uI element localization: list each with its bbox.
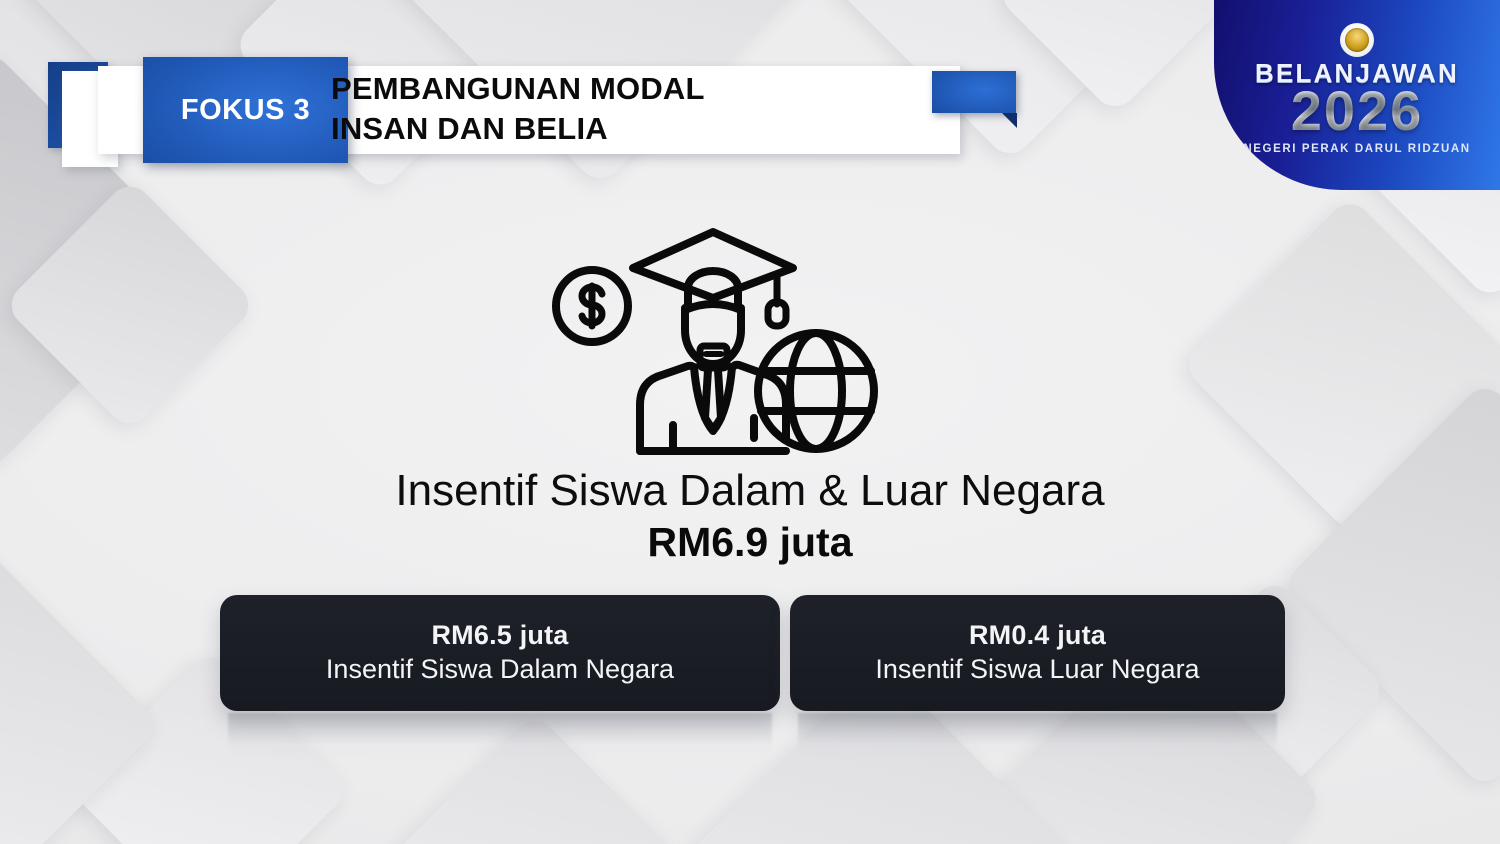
main-amount: RM6.9 juta: [0, 519, 1500, 566]
card-description: Insentif Siswa Dalam Negara: [326, 653, 674, 687]
body-left: [640, 366, 694, 451]
breakdown-cards: RM6.5 juta Insentif Siswa Dalam Negara R…: [0, 595, 1500, 715]
slide-root: FOKUS 3 PEMBANGUNAN MODAL INSAN DAN BELI…: [0, 0, 1500, 844]
crest-inner: [1345, 28, 1369, 52]
page-title-line-1: PEMBANGUNAN MODAL: [331, 69, 891, 109]
page-title: PEMBANGUNAN MODAL INSAN DAN BELIA: [331, 69, 891, 150]
cap-band-line: [685, 304, 741, 310]
perak-crest-icon: [1340, 23, 1374, 57]
graduation-cap-icon: [633, 232, 793, 326]
necktie: [705, 370, 721, 430]
logo-subtitle: NEGERI PERAK DARUL RIDZUAN: [1214, 143, 1500, 155]
card-amount: RM6.5 juta: [431, 619, 568, 653]
fokus-badge-label: FOKUS 3: [181, 94, 310, 127]
main-headline: Insentif Siswa Dalam & Luar Negara: [0, 466, 1500, 516]
card-reflection: [798, 713, 1277, 759]
header: FOKUS 3 PEMBANGUNAN MODAL INSAN DAN BELI…: [48, 57, 960, 157]
logo-year: 2026: [1214, 78, 1500, 143]
header-accent-block-right: [932, 71, 1016, 113]
card-amount: RM0.4 juta: [969, 619, 1106, 653]
breakdown-card-luar-negara[interactable]: RM0.4 juta Insentif Siswa Luar Negara: [790, 595, 1285, 711]
page-title-line-2: INSAN DAN BELIA: [331, 109, 891, 149]
card-reflection: [228, 713, 772, 759]
fokus-badge[interactable]: FOKUS 3: [143, 57, 348, 163]
collar: [694, 367, 732, 431]
dollar-coin-icon: [556, 270, 628, 342]
graduate-with-globe-and-coin-icon: [540, 198, 900, 460]
globe-icon: [758, 333, 874, 449]
breakdown-card-dalam-negara[interactable]: RM6.5 juta Insentif Siswa Dalam Negara: [220, 595, 780, 711]
card-description: Insentif Siswa Luar Negara: [875, 653, 1199, 687]
